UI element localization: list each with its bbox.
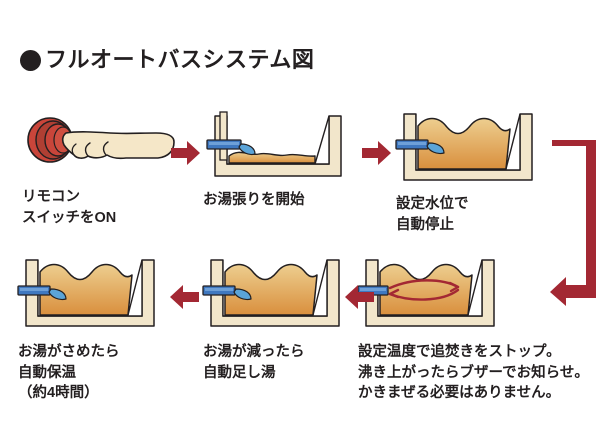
bathtub-circulation-icon [358,258,508,330]
step-fill-caption: お湯張りを開始 [203,190,363,211]
step-stop-caption: 設定水位で 自動停止 [396,194,561,235]
hand-pressing-button-icon [22,112,182,174]
page-title: フルオートバスシステム図 [20,49,314,71]
arrow-right-icon [171,141,201,165]
connector-remote-to-fill [171,141,201,165]
arrow-left-icon [345,285,375,309]
step-refill-caption: お湯が減ったら 自動足し湯 [203,342,363,383]
connector-reheat-to-refill [345,285,375,309]
bathtub-keepwarm-icon [18,258,168,330]
connector-refill-to-keepwarm [170,285,200,309]
bathtub-refill-icon [203,258,353,330]
connector-fill-to-stop [362,141,392,165]
arrow-left-icon [170,285,200,309]
arrow-right-icon [362,141,392,165]
bathtub-keepwarm-illustration [18,258,188,330]
step-remote-caption: リモコン スイッチをON [22,187,192,228]
remote-button-hand-illustration [22,112,192,174]
step-auto-stop-at-level: 設定水位で 自動停止 [396,112,561,235]
step-start-filling: お湯張りを開始 [203,112,363,211]
bathtub-low-water-icon [203,112,353,180]
step-remote-switch-on: リモコン スイッチをON [22,112,192,228]
step-keepwarm-caption: お湯がさめたら 自動保温 （約4時間） [18,342,188,404]
step-reheat-caption: 設定温度で追焚きをストップ。 沸き上がったらブザーでお知らせ。 かきまぜる必要は… [358,342,598,404]
bathtub-full-water-illustration [396,112,561,184]
diagram-canvas: フルオートバスシステム図 リモコン スイッチをON [0,0,600,447]
step-auto-keep-warm: お湯がさめたら 自動保温 （約4時間） [18,258,188,404]
bathtub-refill-illustration [203,258,363,330]
step-auto-refill: お湯が減ったら 自動足し湯 [203,258,363,383]
page-title-text: フルオートバスシステム図 [45,49,314,71]
bullet-icon [20,50,41,71]
bathtub-circulation-illustration [358,258,598,330]
bathtub-full-water-icon [396,112,546,184]
step-reheat-stop: 設定温度で追焚きをストップ。 沸き上がったらブザーでお知らせ。 かきまぜる必要は… [358,258,598,404]
bathtub-low-water-illustration [203,112,363,180]
